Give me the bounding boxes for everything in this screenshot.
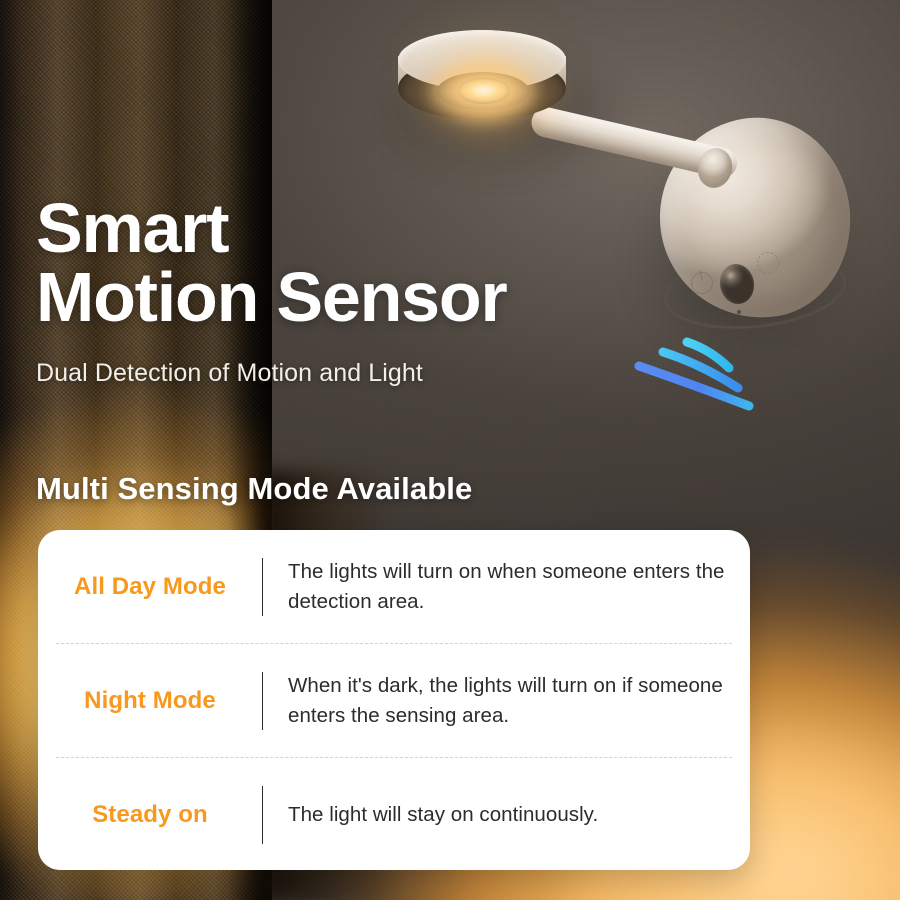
page-title: Smart Motion Sensor <box>36 194 507 333</box>
mode-label: All Day Mode <box>38 573 262 601</box>
status-led <box>737 310 741 314</box>
title-line-1: Smart <box>36 189 228 267</box>
mode-divider <box>262 786 263 844</box>
mode-divider <box>262 672 263 730</box>
mode-row-all-day: All Day Mode The lights will turn on whe… <box>38 530 750 643</box>
mode-label: Night Mode <box>38 687 262 715</box>
title-line-2: Motion Sensor <box>36 263 507 332</box>
lamp-light-halo <box>400 30 580 160</box>
mode-description: When it's dark, the lights will turn on … <box>288 671 750 729</box>
mode-description: The lights will turn on when someone ent… <box>288 557 750 615</box>
mode-divider <box>262 558 263 616</box>
sensing-modes-card: All Day Mode The lights will turn on whe… <box>38 530 750 870</box>
page-subtitle: Dual Detection of Motion and Light <box>36 359 423 388</box>
mode-description: The light will stay on continuously. <box>288 800 750 829</box>
motion-signal-waves-icon <box>625 328 785 428</box>
mode-label: Steady on <box>38 801 262 829</box>
mode-row-steady-on: Steady on The light will stay on continu… <box>38 758 750 870</box>
mode-row-night: Night Mode When it's dark, the lights wi… <box>38 644 750 757</box>
section-title: Multi Sensing Mode Available <box>36 471 472 507</box>
product-poster: Smart Motion Sensor Dual Detection of Mo… <box>0 0 900 900</box>
